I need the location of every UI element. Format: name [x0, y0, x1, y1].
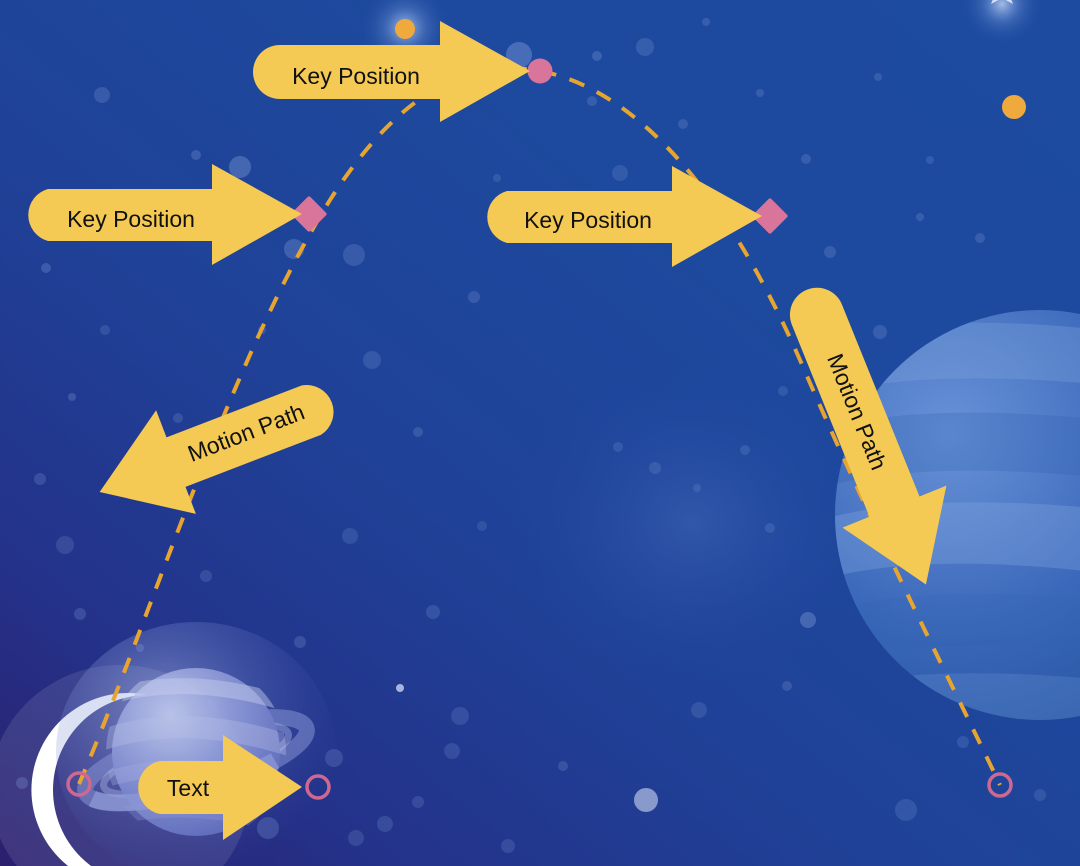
- annotation-label: Key Position: [67, 206, 195, 232]
- keyframe-apex-dot: [528, 59, 553, 84]
- annotation-label: Text: [167, 775, 210, 801]
- annotation-label: Key Position: [292, 63, 420, 89]
- annotation-label: Key Position: [524, 207, 652, 233]
- orange-dot-right: [1002, 95, 1026, 119]
- orange-dot-top: [395, 19, 415, 39]
- motion-path-diagram: Key Position Key Position Key Position M…: [0, 0, 1080, 866]
- diagram-canvas: Key Position Key Position Key Position M…: [0, 0, 1080, 866]
